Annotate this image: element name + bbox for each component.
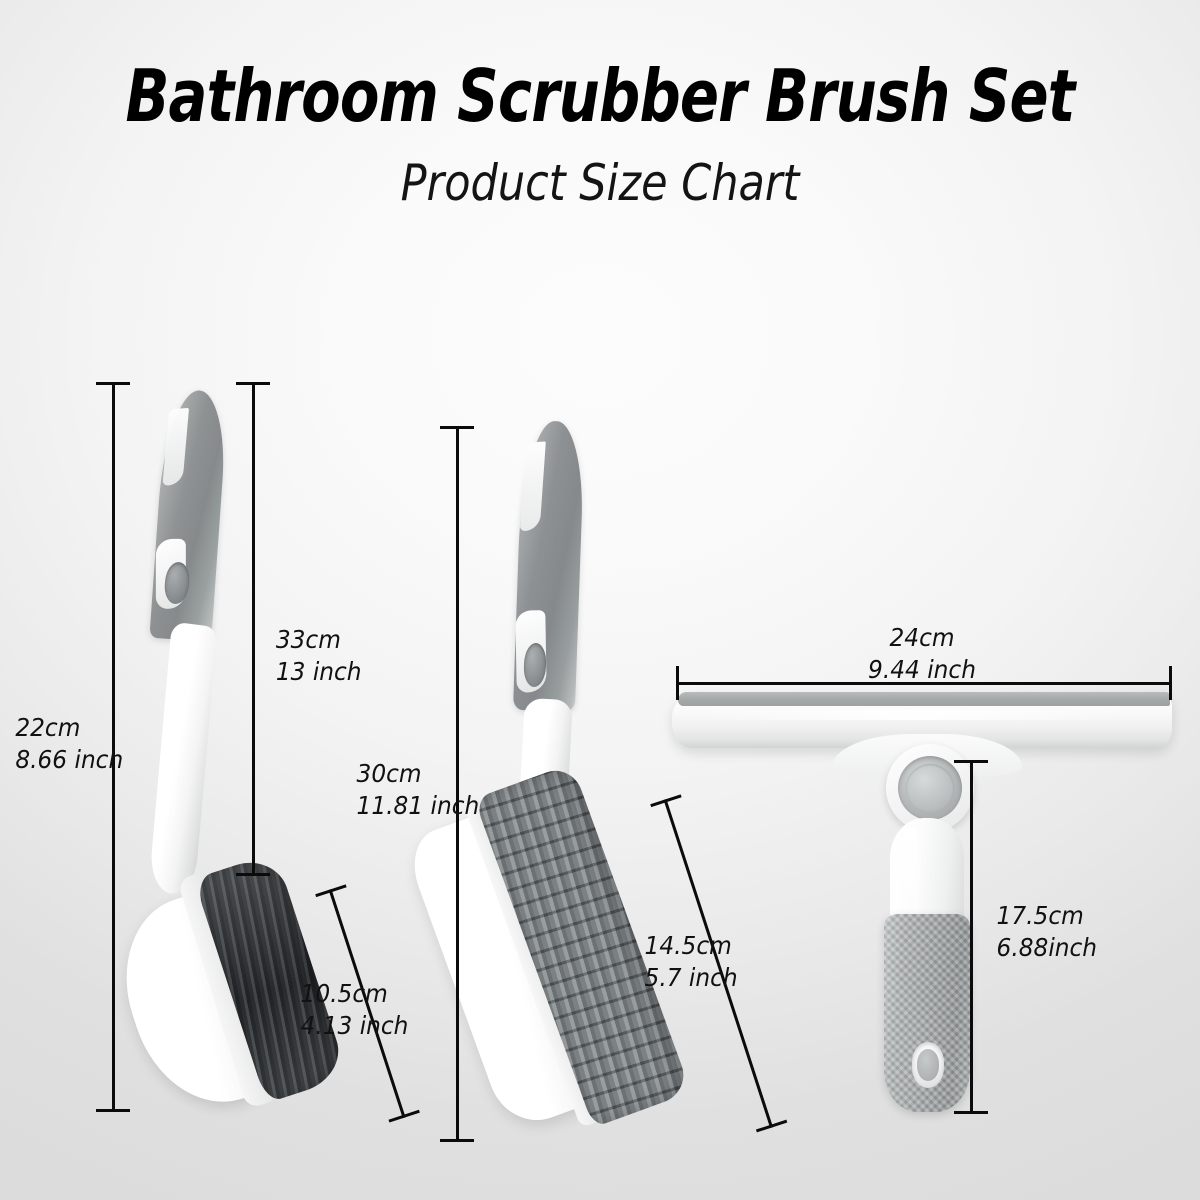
dimension-label-p3-width: 24cm 9.44 inch: [838, 622, 1005, 685]
brush-handle-grip: [149, 388, 228, 642]
dimension-value-inch: 4.13 inch: [301, 1011, 409, 1040]
dimension-cap-top-p3-handle: [954, 760, 988, 763]
dimension-value-inch: 9.44 inch: [868, 655, 976, 684]
dimension-value-inch: 8.66 inch: [15, 745, 123, 774]
dimension-label-p1-total: 33cm 13 inch: [276, 624, 378, 687]
dimension-cap-bottom-p1-handle: [96, 1109, 130, 1112]
dimension-cap-end-p1-head: [388, 1110, 419, 1123]
dimension-value-cm: 22cm: [15, 713, 80, 742]
page-header: Bathroom Scrubber Brush Set Product Size…: [0, 0, 1200, 208]
dimension-value-cm: 10.5cm: [301, 979, 388, 1008]
dimension-value-inch: 6.88inch: [997, 933, 1097, 962]
dimension-label-p3-handle: 17.5cm 6.88inch: [997, 900, 1118, 963]
squeegee-shaft: [890, 818, 964, 922]
dimension-cap-top-p1-handle: [96, 382, 130, 385]
squeegee-hang-hole: [912, 1042, 944, 1088]
dimension-line-p3-handle: [970, 760, 973, 1114]
dimension-value-cm: 24cm: [889, 623, 954, 652]
page-subtitle: Product Size Chart: [84, 158, 1116, 208]
dimension-cap-bottom-p2-total: [440, 1139, 474, 1142]
squeegee-rubber-strip: [678, 692, 1170, 706]
dimension-value-cm: 17.5cm: [997, 901, 1084, 930]
dimension-value-cm: 30cm: [357, 759, 422, 788]
dimension-cap-bottom-p1-total: [236, 873, 270, 876]
dimension-label-p1-handle: 22cm 8.66 inch: [15, 712, 103, 775]
dimension-value-cm: 33cm: [276, 625, 341, 654]
dimension-cap-top-p2-total: [440, 426, 474, 429]
dimension-label-p2-total: 30cm 11.81 inch: [357, 758, 478, 821]
dimension-cap-right-p3-width: [1169, 666, 1172, 700]
dimension-value-inch: 11.81 inch: [357, 791, 480, 820]
squeegee-blade-highlight: [692, 710, 1132, 720]
squeegee-pivot-cap: [898, 756, 962, 820]
dimension-label-p1-head: 10.5cm 4.13 inch: [301, 978, 422, 1041]
dimension-cap-bottom-p3-handle: [954, 1111, 988, 1114]
page-title: Bathroom Scrubber Brush Set: [120, 60, 1080, 132]
dimension-line-p1-total: [252, 382, 255, 876]
dimension-cap-top-p1-total: [236, 382, 270, 385]
dimension-cap-left-p3-width: [676, 666, 679, 700]
dimension-value-inch: 13 inch: [276, 657, 362, 686]
squeegee-handle-grip: [884, 914, 970, 1112]
